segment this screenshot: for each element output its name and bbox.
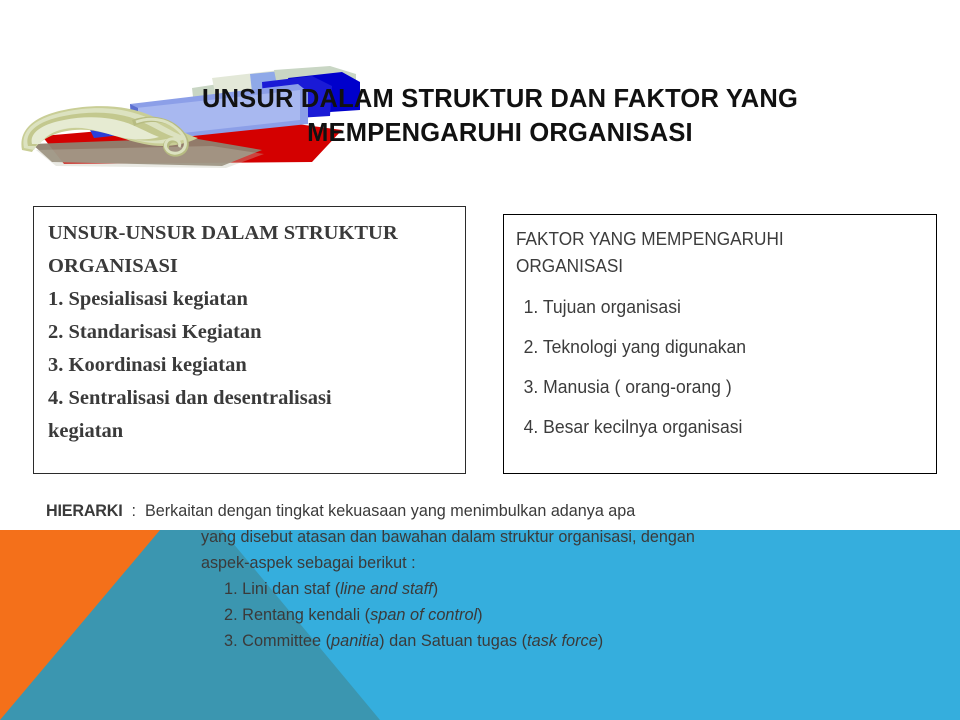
aspect-text-mid: ) dan Satuan tugas ( [379, 631, 527, 650]
aspect-text: Committee ( [242, 631, 331, 650]
aspect-italic-term-2: task force [527, 631, 598, 650]
hierarki-line3: aspek-aspek sebagai berikut : [201, 550, 909, 576]
hierarki-line1: Berkaitan dengan tingkat kekuasaan yang … [145, 501, 635, 520]
hierarki-colon [123, 501, 132, 520]
hierarki-first-line: HIERARKI : Berkaitan dengan tingkat keku… [46, 498, 901, 524]
aspect-italic-term: span of control [370, 605, 477, 624]
hierarki-aspect-item: 1. Lini dan staf (line and staff) [224, 576, 917, 602]
aspect-italic-term: line and staff [340, 579, 433, 598]
aspect-text-after: ) [598, 631, 603, 650]
unsur-content-box: UNSUR-UNSUR DALAM STRUKTUR ORGANISASI 1.… [33, 206, 466, 474]
list-item: 1. Spesialisasi kegiatan [48, 283, 451, 316]
aspect-text-after: ) [433, 579, 438, 598]
aspect-number: 3. [224, 631, 238, 650]
page-title: UNSUR DALAM STRUKTUR DAN FAKTOR YANG MEM… [120, 82, 880, 150]
faktor-content-box: FAKTOR YANG MEMPENGARUHI ORGANISASI 1. T… [503, 214, 937, 474]
list-item: 3. Koordinasi kegiatan [48, 349, 451, 382]
list-item: 4. Sentralisasi dan desentralisasi [48, 382, 451, 415]
hierarki-aspect-item: 3. Committee (panitia) dan Satuan tugas … [224, 628, 917, 654]
list-item: kegiatan [48, 415, 451, 448]
faktor-box-heading: FAKTOR YANG MEMPENGARUHI ORGANISASI [516, 225, 895, 279]
list-item: 4. Besar kecilnya organisasi [516, 414, 904, 439]
list-item: 3. Manusia ( orang-orang ) [516, 374, 904, 399]
hierarki-line2: yang disebut atasan dan bawahan dalam st… [201, 524, 909, 550]
aspect-text-after: ) [477, 605, 482, 624]
list-item: 1. Tujuan organisasi [516, 294, 904, 319]
unsur-box-heading: UNSUR-UNSUR DALAM STRUKTUR ORGANISASI [48, 217, 451, 283]
hierarki-aspect-item: 2. Rentang kendali (span of control) [224, 602, 917, 628]
aspect-number: 2. [224, 605, 238, 624]
hierarki-label: HIERARKI [46, 501, 123, 520]
list-item: 2. Standarisasi Kegiatan [48, 316, 451, 349]
list-item: 2. Teknologi yang digunakan [516, 334, 904, 359]
aspect-italic-term: panitia [331, 631, 379, 650]
aspect-text: Rentang kendali ( [242, 605, 370, 624]
aspect-text: Lini dan staf ( [242, 579, 340, 598]
hierarki-block: HIERARKI : Berkaitan dengan tingkat keku… [46, 498, 946, 654]
aspect-number: 1. [224, 579, 238, 598]
